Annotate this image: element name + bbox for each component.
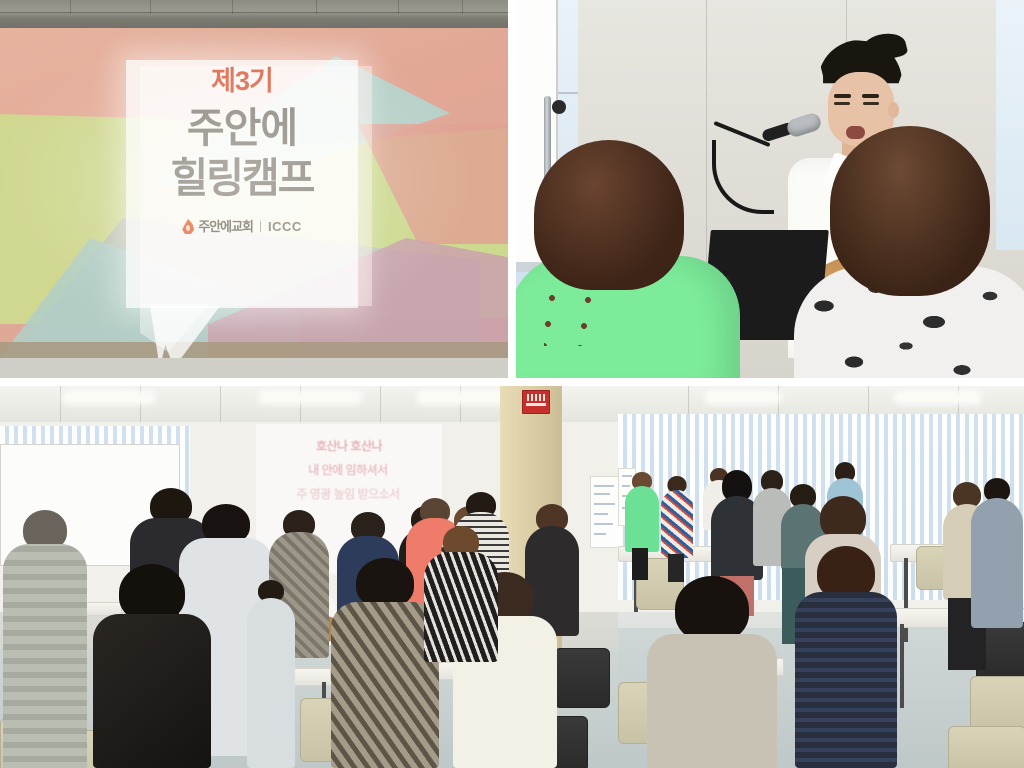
projected-lyric-line-1: 호산나 호산나 <box>256 438 442 454</box>
projection-screen: 제3기 주안에 힐링캠프 주안에교회 ICCC <box>0 28 508 358</box>
worship-leader-guitar-photo <box>516 0 1024 378</box>
attendee-back-view <box>422 526 500 662</box>
folding-chair <box>554 648 610 708</box>
singer-brow-right <box>862 94 879 98</box>
emergency-sign <box>522 390 550 414</box>
ceiling-strip <box>0 0 508 30</box>
attendee-green-top <box>516 140 760 378</box>
gutter-horizontal <box>0 378 1024 386</box>
singer-ear <box>888 102 899 118</box>
slide-title-line-1: 주안에 <box>126 108 358 149</box>
slide-title-line-2: 힐링캠프 <box>126 158 358 199</box>
projected-title-slide: 제3기 주안에 힐링캠프 주안에교회 ICCC <box>0 0 508 378</box>
attendee-green-hair <box>534 140 684 290</box>
flame-icon <box>182 219 194 234</box>
singer-hair-tuft <box>860 29 909 65</box>
attendee-back-view <box>660 476 694 582</box>
singer-brow-left <box>834 94 851 98</box>
congregation-standing-left-photo: 호산나 호산나 내 안에 임하셔서 주 영광 높임 받으소서 <box>0 386 618 768</box>
notice-board-left <box>590 476 618 548</box>
gutter-vertical-top <box>508 0 516 386</box>
slide-text-block: 제3기 주안에 힐링캠프 주안에교회 ICCC <box>126 68 358 234</box>
attendee-back-view <box>2 510 88 768</box>
attendee-back-view <box>624 472 660 580</box>
attendee-back-view <box>646 576 778 768</box>
attendee-back-view <box>92 564 212 768</box>
congregation-standing-right-photo <box>618 386 1024 768</box>
attendee-floral-top <box>794 126 1024 378</box>
projected-lyric-line-2: 내 안에 임하셔서 <box>250 462 446 478</box>
singer-eye-right <box>863 102 879 105</box>
folding-chair <box>948 726 1024 768</box>
logo-divider <box>260 221 261 232</box>
attendee-back-view <box>246 580 296 768</box>
attendee-back-view <box>794 546 898 768</box>
logo-english-name: ICCC <box>268 220 302 233</box>
singer-eye-left <box>834 102 850 105</box>
attendee-back-view <box>970 478 1024 628</box>
stand-knob <box>552 100 566 114</box>
logo-korean-name: 주안에교회 <box>198 220 253 233</box>
slide-term-label: 제3기 <box>126 68 358 95</box>
church-logo: 주안에교회 ICCC <box>126 219 358 234</box>
photo-collage: 제3기 주안에 힐링캠프 주안에교회 ICCC <box>0 0 1024 768</box>
attendee-floral-hair <box>830 126 990 296</box>
